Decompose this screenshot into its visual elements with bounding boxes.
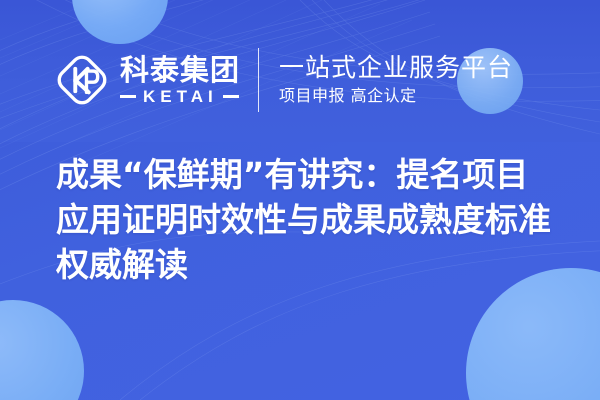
tagline-primary: 一站式企业服务平台	[279, 53, 513, 83]
logo-wordmark: 科泰集团 KETAI	[120, 55, 240, 106]
logo-company-name-en: KETAI	[143, 88, 218, 106]
ketai-diamond-kp-logo-icon	[54, 52, 110, 108]
logo-dash-left-icon	[120, 95, 136, 98]
promo-banner: 科泰集团 KETAI 一站式企业服务平台 项目申报 高企认定 成果“保鲜期”有讲…	[0, 0, 600, 400]
tagline-secondary: 项目申报 高企认定	[279, 85, 513, 107]
brand-tagline: 一站式企业服务平台 项目申报 高企认定	[279, 53, 513, 107]
logo-company-name-en-row: KETAI	[120, 88, 240, 106]
page-title: 成果“保鲜期”有讲究：提名项目应用证明时效性与成果成熟度标准权威解读	[56, 152, 556, 287]
logo-dash-right-icon	[223, 95, 239, 98]
header-divider	[258, 48, 259, 112]
brand-logo[interactable]: 科泰集团 KETAI	[54, 52, 240, 108]
banner-header: 科泰集团 KETAI 一站式企业服务平台 项目申报 高企认定	[0, 42, 600, 118]
logo-company-name-cn: 科泰集团	[120, 55, 240, 85]
